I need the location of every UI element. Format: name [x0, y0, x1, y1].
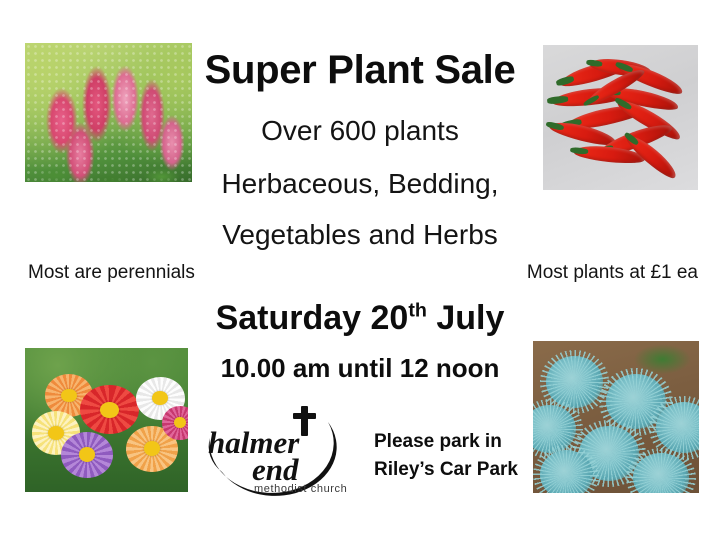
note-price: Most plants at £1 ea: [527, 262, 698, 284]
note-perennials: Most are perennials: [28, 262, 195, 284]
halmer-end-methodist-church-logo: halmer end methodist church: [200, 398, 352, 498]
parking-note: Please park in Riley’s Car Park: [374, 428, 544, 483]
parking-note-line-1: Please park in: [374, 428, 544, 456]
subtitle-line-3: Vegetables and Herbs: [0, 219, 720, 251]
logo-subtitle: methodist church: [254, 483, 347, 495]
page-title: Super Plant Sale: [0, 48, 720, 93]
event-date-prefix: Saturday 20: [216, 299, 409, 337]
subtitle-line-2: Herbaceous, Bedding,: [0, 168, 720, 200]
poster-canvas: Super Plant Sale Over 600 plants Herbace…: [0, 0, 720, 540]
logo-word-end: end: [252, 452, 299, 487]
event-date-ordinal: th: [408, 300, 427, 322]
parking-note-line-2: Riley’s Car Park: [374, 456, 544, 484]
event-time: 10.00 am until 12 noon: [0, 353, 720, 384]
event-date-suffix: July: [427, 299, 504, 337]
event-date: Saturday 20th July: [0, 299, 720, 338]
subtitle-line-1: Over 600 plants: [0, 115, 720, 147]
